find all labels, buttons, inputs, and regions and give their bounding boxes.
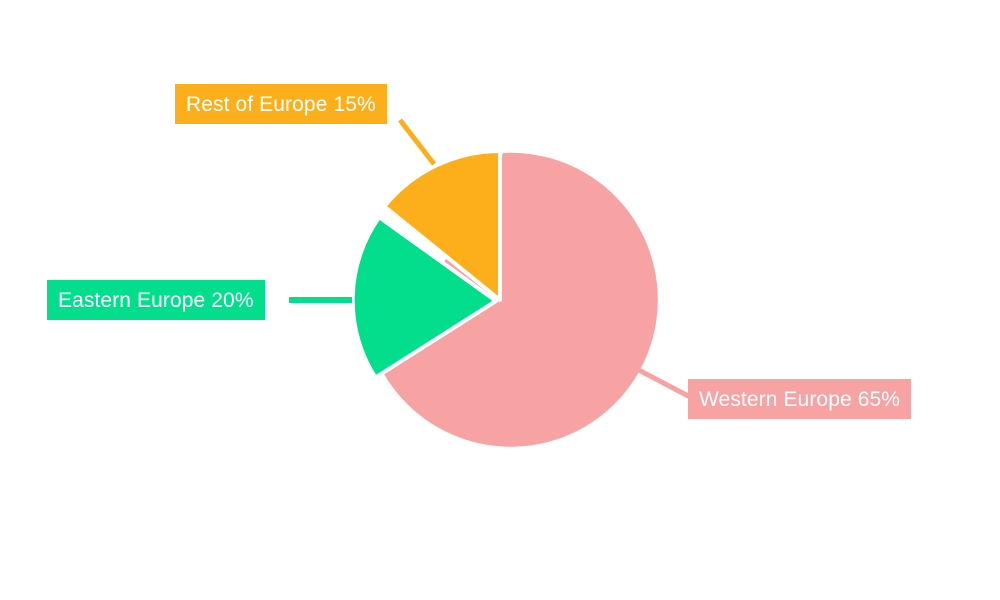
pie-label-rest-of-europe[interactable]: Rest of Europe 15% (175, 84, 387, 124)
pie-label-western-europe-text: Western Europe 65% (699, 389, 900, 410)
pie-label-eastern-europe[interactable]: Eastern Europe 20% (47, 280, 265, 320)
pie-label-rest-of-europe-text: Rest of Europe 15% (186, 94, 376, 115)
pie-label-eastern-europe-text: Eastern Europe 20% (58, 290, 254, 311)
pie-chart-figure: Western Europe 65% Eastern Europe 20% Re… (0, 0, 1000, 600)
pie-label-western-europe[interactable]: Western Europe 65% (688, 379, 911, 419)
